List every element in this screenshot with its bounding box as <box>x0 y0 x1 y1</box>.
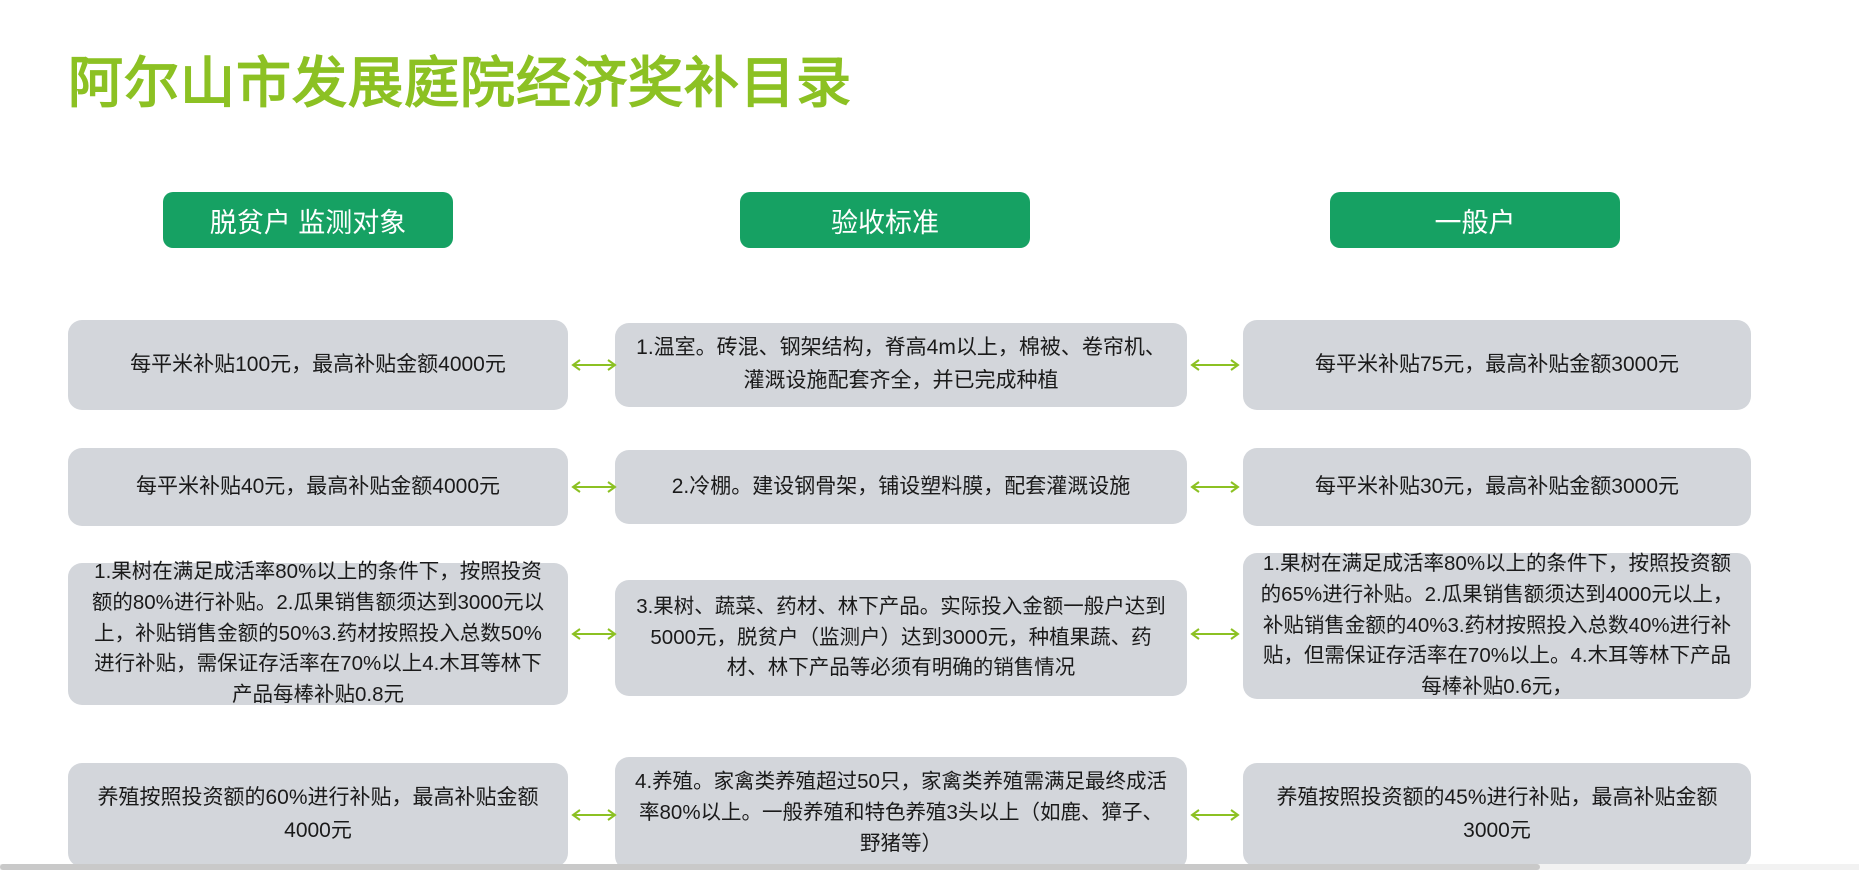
page-title: 阿尔山市发展庭院经济奖补目录 <box>68 38 852 118</box>
card-text: 4.养殖。家禽类养殖超过50只，家禽类养殖需满足最终成活率80%以上。一般养殖和… <box>631 767 1171 859</box>
card-row4-left: 养殖按照投资额的60%进行补贴，最高补贴金额4000元 <box>68 763 568 867</box>
horizontal-scrollbar-track[interactable] <box>0 864 1859 870</box>
connector-row4-left <box>570 802 618 828</box>
card-row2-middle: 2.冷棚。建设钢骨架，铺设塑料膜，配套灌溉设施 <box>615 450 1187 524</box>
card-text: 3.果树、蔬菜、药材、林下产品。实际投入金额一般户达到5000元，脱贫户（监测户… <box>631 592 1171 684</box>
card-text: 养殖按照投资额的60%进行补贴，最高补贴金额4000元 <box>84 782 552 847</box>
card-text: 2.冷棚。建设钢骨架，铺设塑料膜，配套灌溉设施 <box>631 471 1171 504</box>
card-text: 1.果树在满足成活率80%以上的条件下，按照投资额的80%进行补贴。2.瓜果销售… <box>84 557 552 711</box>
connector-row3-right <box>1189 621 1243 647</box>
column-header-general-household: 一般户 <box>1330 192 1620 248</box>
card-text: 每平米补贴75元，最高补贴金额3000元 <box>1259 349 1735 382</box>
connector-row1-right <box>1189 352 1243 378</box>
card-text: 每平米补贴40元，最高补贴金额4000元 <box>84 471 552 504</box>
card-row4-right: 养殖按照投资额的45%进行补贴，最高补贴金额3000元 <box>1243 763 1751 867</box>
column-header-poor-household: 脱贫户 监测对象 <box>163 192 453 248</box>
card-row2-left: 每平米补贴40元，最高补贴金额4000元 <box>68 448 568 526</box>
card-row3-left: 1.果树在满足成活率80%以上的条件下，按照投资额的80%进行补贴。2.瓜果销售… <box>68 563 568 705</box>
connector-row3-left <box>570 621 618 647</box>
card-row3-right: 1.果树在满足成活率80%以上的条件下，按照投资额的65%进行补贴。2.瓜果销售… <box>1243 553 1751 699</box>
horizontal-scrollbar-thumb[interactable] <box>0 864 1540 870</box>
card-text: 1.果树在满足成活率80%以上的条件下，按照投资额的65%进行补贴。2.瓜果销售… <box>1259 549 1735 703</box>
connector-row1-left <box>570 352 618 378</box>
card-row4-middle: 4.养殖。家禽类养殖超过50只，家禽类养殖需满足最终成活率80%以上。一般养殖和… <box>615 757 1187 870</box>
card-row1-left: 每平米补贴100元，最高补贴金额4000元 <box>68 320 568 410</box>
connector-row2-right <box>1189 474 1243 500</box>
card-row1-right: 每平米补贴75元，最高补贴金额3000元 <box>1243 320 1751 410</box>
column-header-label: 脱贫户 监测对象 <box>210 201 407 240</box>
connector-row4-right <box>1189 802 1243 828</box>
card-text: 每平米补贴100元，最高补贴金额4000元 <box>84 349 552 382</box>
card-text: 每平米补贴30元，最高补贴金额3000元 <box>1259 471 1735 504</box>
card-text: 养殖按照投资额的45%进行补贴，最高补贴金额3000元 <box>1259 782 1735 847</box>
card-row1-middle: 1.温室。砖混、钢架结构，脊高4m以上，棉被、卷帘机、灌溉设施配套齐全，并已完成… <box>615 323 1187 407</box>
connector-row2-left <box>570 474 618 500</box>
column-header-label: 一般户 <box>1435 201 1516 240</box>
column-header-label: 验收标准 <box>831 201 939 240</box>
card-text: 1.温室。砖混、钢架结构，脊高4m以上，棉被、卷帘机、灌溉设施配套齐全，并已完成… <box>631 332 1171 397</box>
column-header-acceptance-standard: 验收标准 <box>740 192 1030 248</box>
card-row3-middle: 3.果树、蔬菜、药材、林下产品。实际投入金额一般户达到5000元，脱贫户（监测户… <box>615 580 1187 696</box>
card-row2-right: 每平米补贴30元，最高补贴金额3000元 <box>1243 448 1751 526</box>
